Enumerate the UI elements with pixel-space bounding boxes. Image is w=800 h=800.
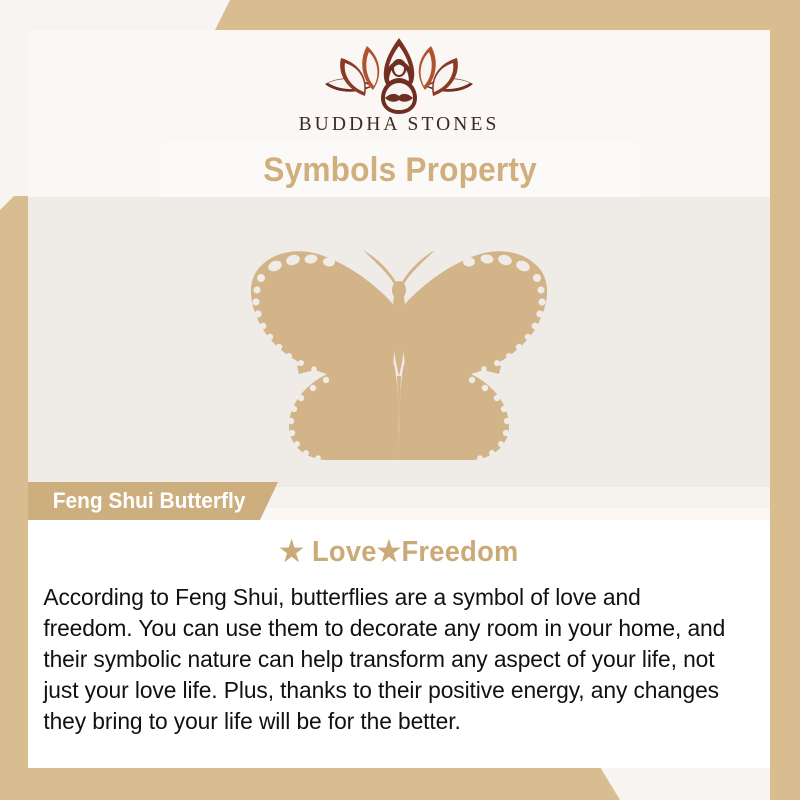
brand-logo: BUDDHA STONES xyxy=(28,30,770,142)
gold-border-top xyxy=(215,0,800,30)
symbol-name-label: Feng Shui Butterfly xyxy=(28,488,245,514)
symbol-name-ribbon: Feng Shui Butterfly xyxy=(28,482,278,520)
keywords-heading: ★ Love★Freedom xyxy=(50,534,747,569)
title-banner: Symbols Property xyxy=(161,142,639,198)
content-card: BUDDHA STONES Symbols Property xyxy=(28,30,770,768)
butterfly-icon xyxy=(223,230,575,460)
symbol-panel xyxy=(28,197,770,487)
gold-border-bottom xyxy=(0,767,620,800)
gold-border-right xyxy=(770,0,800,800)
page-title: Symbols Property xyxy=(263,151,537,190)
lotus-meditation-icon xyxy=(315,36,483,116)
brand-name: BUDDHA STONES xyxy=(299,114,500,136)
description-section: ★ Love★Freedom According to Feng Shui, b… xyxy=(28,520,770,768)
description-paragraph: According to Feng Shui, butterflies are … xyxy=(22,582,751,737)
poster-canvas: BUDDHA STONES Symbols Property xyxy=(0,0,800,800)
